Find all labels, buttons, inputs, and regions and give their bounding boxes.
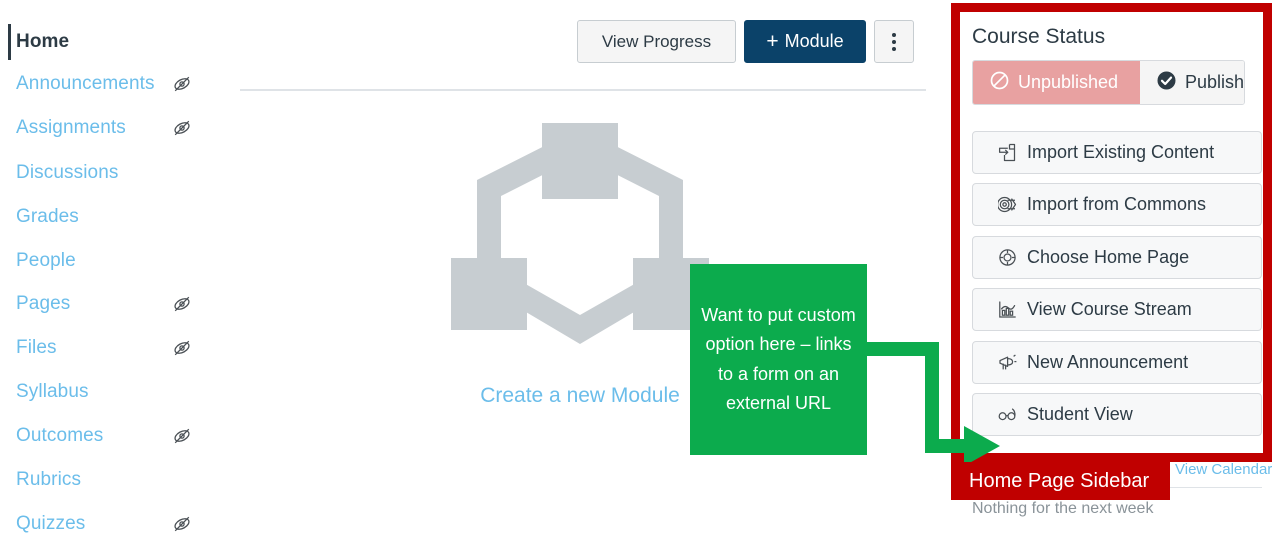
- more-options-icon: [892, 33, 896, 51]
- view-progress-button[interactable]: View Progress: [577, 20, 736, 63]
- callout-text: Want to put custom option here – links t…: [698, 301, 859, 418]
- unpublished-segment[interactable]: Unpublished: [973, 61, 1140, 104]
- sidebar-item-rubrics[interactable]: Rubrics: [16, 470, 81, 489]
- course-navigation: Home Announcements Assignments Discussio…: [0, 0, 230, 542]
- sidebar-item-syllabus[interactable]: Syllabus: [16, 382, 89, 401]
- plus-icon: +: [766, 31, 778, 52]
- sidebar-item-discussions[interactable]: Discussions: [16, 163, 118, 182]
- sidebar-item-home[interactable]: Home: [16, 32, 69, 51]
- add-module-label: Module: [785, 31, 844, 52]
- home-page-sidebar-label: Home Page Sidebar: [951, 462, 1170, 500]
- publish-label: Publish: [1185, 72, 1244, 93]
- sidebar-item-files[interactable]: Files: [16, 338, 57, 357]
- module-placeholder-graphic: [440, 118, 720, 363]
- button-label: Import from Commons: [1027, 194, 1206, 215]
- commons-icon: [997, 194, 1018, 215]
- sidebar-item-assignments[interactable]: Assignments: [16, 118, 126, 137]
- sidebar-item-announcements[interactable]: Announcements: [16, 74, 155, 93]
- button-label: Student View: [1027, 404, 1133, 425]
- student-view-button[interactable]: Student View: [972, 393, 1262, 436]
- sidebar-item-quizzes[interactable]: Quizzes: [16, 514, 85, 533]
- nothing-next-week-text: Nothing for the next week: [972, 500, 1153, 518]
- check-circle-icon: [1156, 70, 1177, 96]
- active-indicator-bar: [8, 24, 11, 60]
- import-document-icon: [997, 142, 1018, 163]
- toolbar-divider: [240, 89, 926, 91]
- import-from-commons-button[interactable]: Import from Commons: [972, 183, 1262, 226]
- sidebar-item-pages[interactable]: Pages: [16, 294, 70, 313]
- glasses-icon: [997, 404, 1018, 425]
- screenshot-root: Home Announcements Assignments Discussio…: [0, 0, 1280, 542]
- sidebar-item-people[interactable]: People: [16, 251, 76, 270]
- target-home-icon: [997, 247, 1018, 268]
- view-course-stream-button[interactable]: View Course Stream: [972, 288, 1262, 331]
- import-existing-content-button[interactable]: Import Existing Content: [972, 131, 1262, 174]
- stream-chart-icon: [997, 299, 1018, 320]
- modules-empty-state: Create a new Module: [440, 118, 720, 398]
- custom-option-callout: Want to put custom option here – links t…: [690, 264, 867, 455]
- hidden-eye-icon[interactable]: [171, 425, 193, 447]
- button-label: New Announcement: [1027, 352, 1188, 373]
- hidden-eye-icon[interactable]: [171, 73, 193, 95]
- publish-segment[interactable]: Publish: [1140, 61, 1244, 104]
- hidden-eye-icon[interactable]: [171, 117, 193, 139]
- hidden-eye-icon[interactable]: [171, 513, 193, 535]
- course-status-title: Course Status: [972, 26, 1105, 47]
- publish-toggle[interactable]: Unpublished Publish: [972, 60, 1245, 105]
- button-label: Import Existing Content: [1027, 142, 1214, 163]
- sidebar-item-outcomes[interactable]: Outcomes: [16, 426, 103, 445]
- new-announcement-button[interactable]: New Announcement: [972, 341, 1262, 384]
- add-module-button[interactable]: +Module: [744, 20, 866, 63]
- more-options-button[interactable]: [874, 20, 914, 63]
- hidden-eye-icon[interactable]: [171, 293, 193, 315]
- megaphone-icon: [997, 352, 1018, 373]
- unpublished-label: Unpublished: [1018, 72, 1118, 93]
- sidebar-item-grades[interactable]: Grades: [16, 207, 79, 226]
- create-a-new-module-link[interactable]: Create a new Module: [440, 384, 720, 408]
- button-label: View Course Stream: [1027, 299, 1192, 320]
- hidden-eye-icon[interactable]: [171, 337, 193, 359]
- choose-home-page-button[interactable]: Choose Home Page: [972, 236, 1262, 279]
- view-calendar-link[interactable]: View Calendar: [1175, 461, 1272, 478]
- button-label: Choose Home Page: [1027, 247, 1189, 268]
- no-entry-icon: [989, 70, 1010, 96]
